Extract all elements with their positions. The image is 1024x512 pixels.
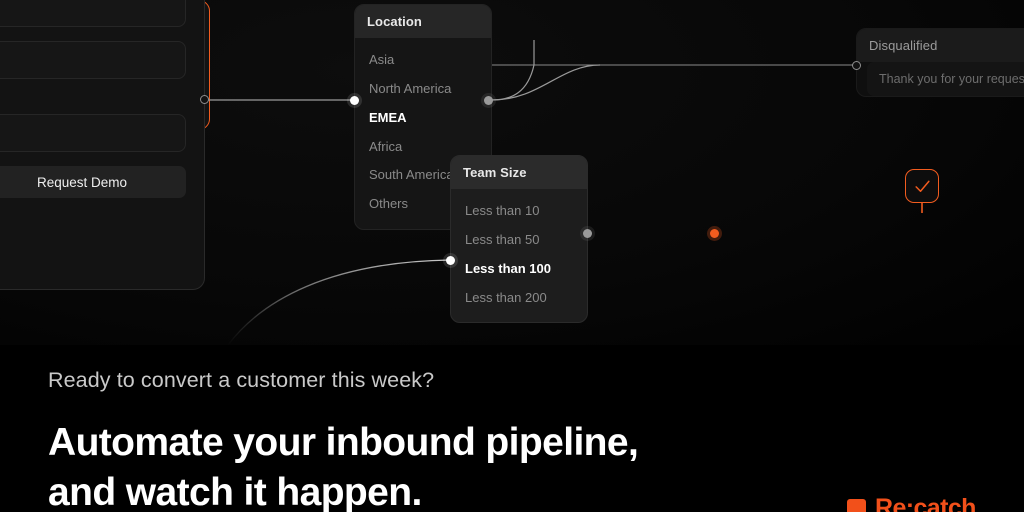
flow-canvas[interactable]: ze Request Demo Location Asia North Amer…	[0, 0, 1024, 345]
node-team-size-title: Team Size	[451, 156, 587, 189]
form-field-1[interactable]	[0, 0, 186, 27]
node-disqualified[interactable]: Disqualified Thank you for your request	[856, 28, 1024, 97]
option-asia[interactable]: Asia	[355, 46, 491, 75]
promo-headline-line-1: Automate your inbound pipeline,	[48, 418, 638, 468]
option-less-than-200[interactable]: Less than 200	[451, 284, 587, 313]
port-form-output[interactable]	[200, 95, 209, 104]
status-badge[interactable]	[905, 169, 939, 203]
form-field-label: ze	[0, 93, 186, 107]
node-team-size-options: Less than 10 Less than 50 Less than 100 …	[451, 189, 587, 322]
port-location-emea-input[interactable]	[350, 96, 359, 105]
promo-headline-line-2: and watch it happen.	[48, 468, 638, 512]
form-field-2[interactable]	[0, 41, 186, 79]
port-disqualified-input[interactable]	[852, 61, 861, 70]
port-location-output[interactable]	[484, 96, 493, 105]
option-less-than-50[interactable]: Less than 50	[451, 226, 587, 255]
option-north-america[interactable]: North America	[355, 75, 491, 104]
option-less-than-100[interactable]: Less than 100	[451, 255, 587, 284]
promo-headline: Automate your inbound pipeline, and watc…	[48, 418, 638, 512]
node-disqualified-title: Disqualified	[857, 29, 1024, 62]
port-team-size-input[interactable]	[446, 256, 455, 265]
recatch-logo-icon	[847, 499, 866, 512]
lead-form-card[interactable]: ze Request Demo	[0, 0, 205, 290]
node-team-size[interactable]: Team Size Less than 10 Less than 50 Less…	[450, 155, 588, 323]
promo-section: Ready to convert a customer this week? A…	[0, 345, 1024, 512]
form-field-3[interactable]	[0, 114, 186, 152]
brand-name: Re:catch	[875, 494, 976, 512]
promo-kicker: Ready to convert a customer this week?	[48, 368, 434, 393]
request-demo-button[interactable]: Request Demo	[0, 166, 186, 198]
node-location-title: Location	[355, 5, 491, 38]
check-icon	[913, 177, 932, 196]
brand-logo[interactable]: Re:catch	[847, 494, 976, 512]
option-emea[interactable]: EMEA	[355, 104, 491, 133]
node-disqualified-message: Thank you for your request	[867, 62, 1024, 96]
port-team-size-output[interactable]	[583, 229, 592, 238]
port-enterprise-input[interactable]	[710, 229, 719, 238]
option-less-than-10[interactable]: Less than 10	[451, 197, 587, 226]
